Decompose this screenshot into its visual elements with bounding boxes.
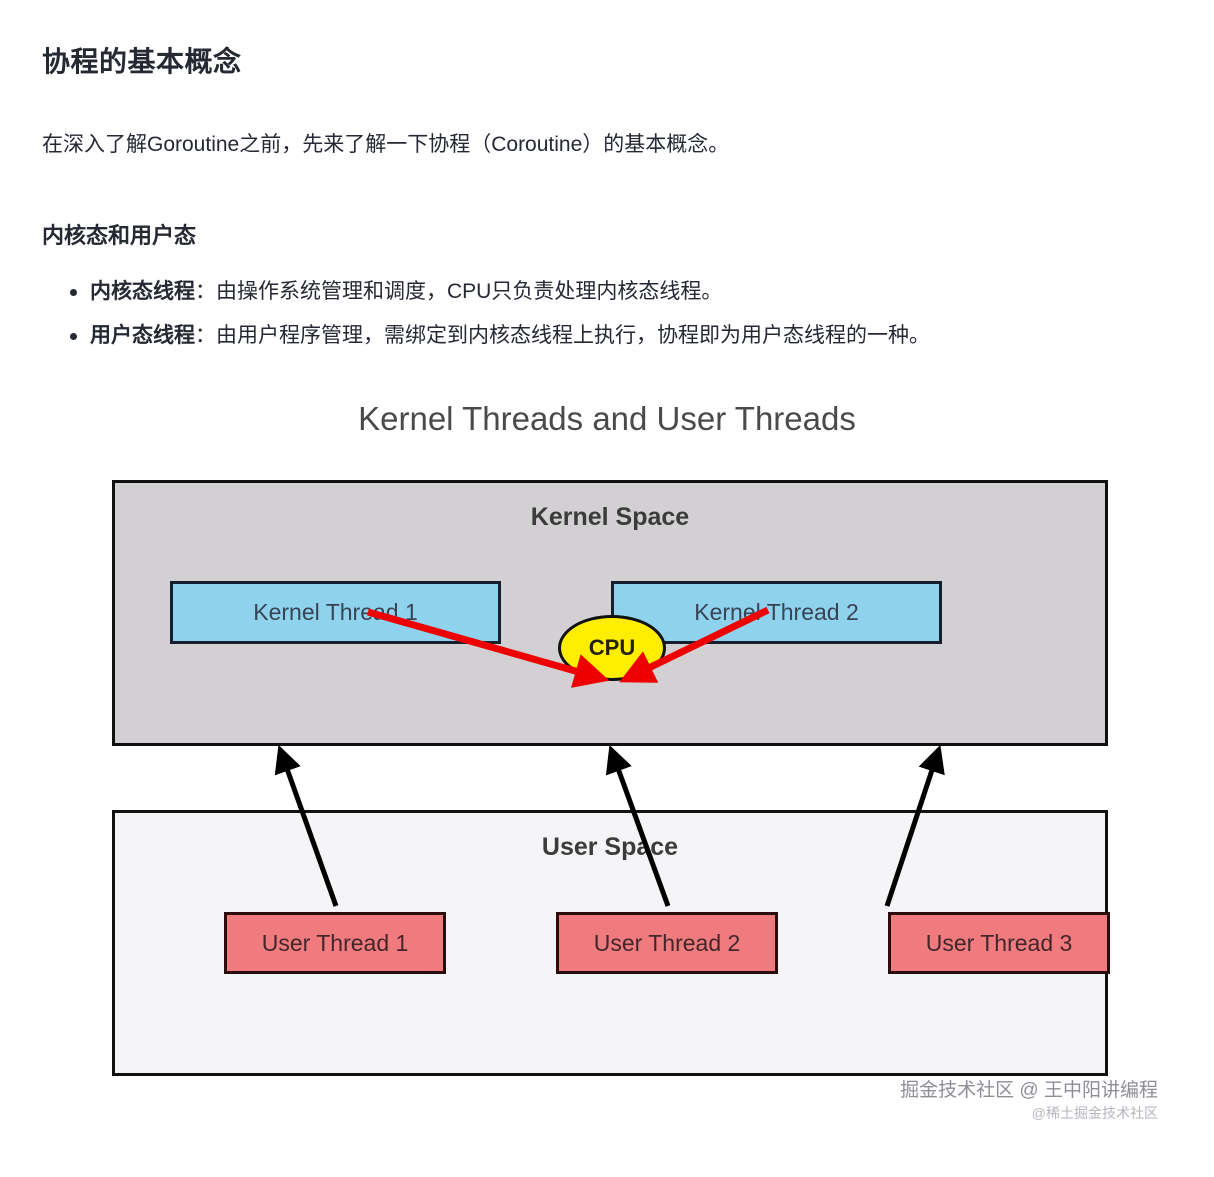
list-item-desc: 由操作系统管理和调度，CPU只负责处理内核态线程。 bbox=[216, 280, 722, 303]
intro-paragraph: 在深入了解Goroutine之前，先来了解一下协程（Coroutine）的基本概… bbox=[42, 80, 1172, 162]
user-thread-1-box: User Thread 1 bbox=[224, 912, 446, 974]
list-item: 用户态线程：由用户程序管理，需绑定到内核态线程上执行，协程即为用户态线程的一种。 bbox=[68, 320, 1172, 353]
list-item-term: 用户态线程 bbox=[90, 324, 195, 347]
thread-model-diagram: Kernel Threads and User Threads Kernel S… bbox=[0, 390, 1214, 1150]
watermark-main: 掘金技术社区 @ 王中阳讲编程 bbox=[900, 1078, 1158, 1104]
concept-list: 内核态线程：由操作系统管理和调度，CPU只负责处理内核态线程。 用户态线程：由用… bbox=[42, 250, 1172, 353]
list-item-separator: ： bbox=[195, 324, 216, 347]
page-title: 协程的基本概念 bbox=[42, 0, 1172, 80]
user-thread-2-box: User Thread 2 bbox=[556, 912, 778, 974]
watermark: 掘金技术社区 @ 王中阳讲编程 @稀土掘金技术社区 bbox=[900, 1078, 1158, 1123]
user-space-label: User Space bbox=[115, 833, 1105, 862]
diagram-title: Kernel Threads and User Threads bbox=[0, 400, 1214, 438]
list-item-separator: ： bbox=[195, 280, 216, 303]
user-thread-3-box: User Thread 3 bbox=[888, 912, 1110, 974]
cpu-node: CPU bbox=[558, 615, 666, 681]
article-body: 协程的基本概念 在深入了解Goroutine之前，先来了解一下协程（Corout… bbox=[42, 0, 1172, 365]
list-item-term: 内核态线程 bbox=[90, 280, 195, 303]
kernel-thread-1-box: Kernel Thread 1 bbox=[170, 581, 501, 644]
list-item-desc: 由用户程序管理，需绑定到内核态线程上执行，协程即为用户态线程的一种。 bbox=[216, 324, 930, 347]
list-item: 内核态线程：由操作系统管理和调度，CPU只负责处理内核态线程。 bbox=[68, 276, 1172, 309]
watermark-sub: @稀土掘金技术社区 bbox=[900, 1104, 1158, 1123]
section-subtitle: 内核态和用户态 bbox=[42, 162, 1172, 250]
kernel-space-label: Kernel Space bbox=[115, 503, 1105, 532]
